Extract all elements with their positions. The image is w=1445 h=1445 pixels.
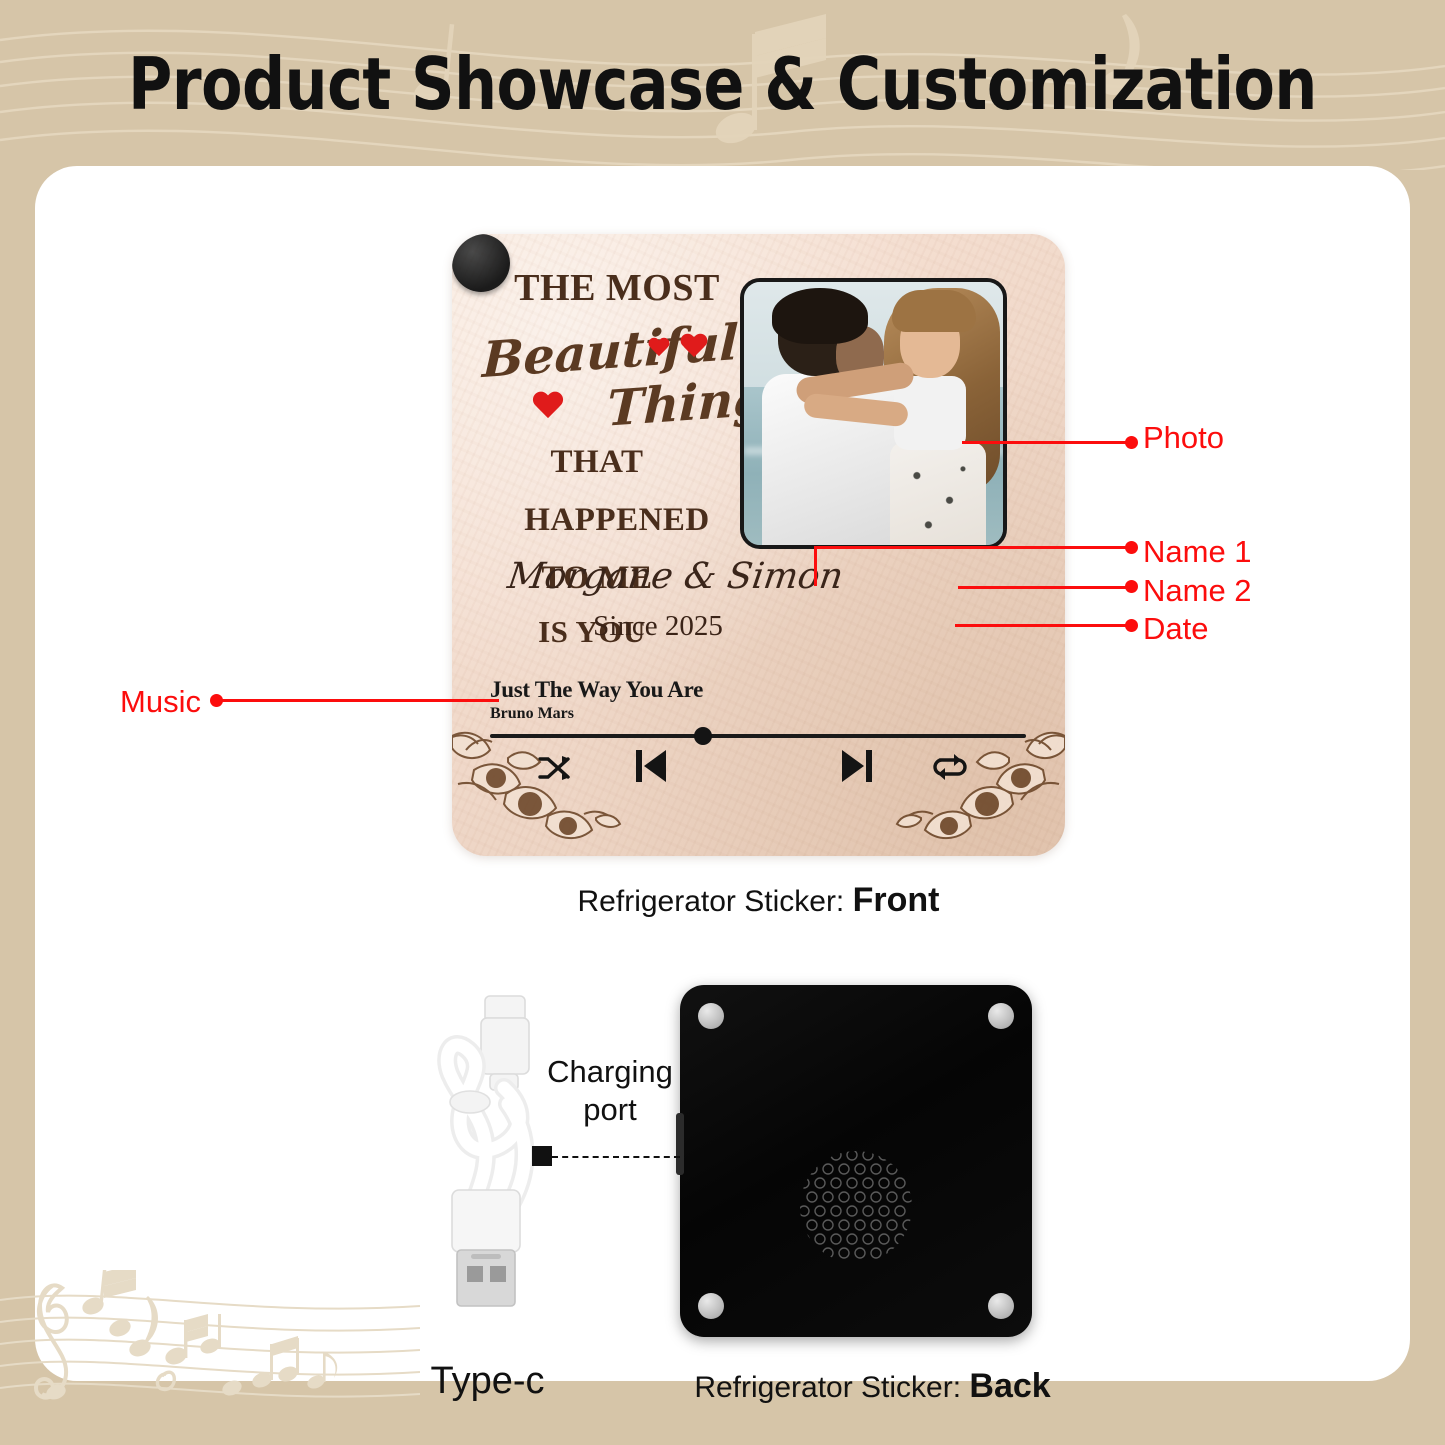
leader-line-name1-v [814, 546, 817, 586]
heart-icon-medium [680, 334, 706, 358]
annotation-music: Music [120, 684, 201, 720]
charging-port-label: Charging port [490, 1053, 730, 1129]
page-header: Product Showcase & Customization [0, 0, 1445, 170]
photo-woman-fringe [892, 290, 976, 332]
annotation-date: Date [1143, 611, 1208, 647]
heart-icon-small [648, 338, 670, 358]
usb-a-connector [452, 1190, 520, 1306]
caption-back: Refrigerator Sticker: Back [680, 1367, 1065, 1406]
leader-dot-name2 [1125, 580, 1138, 593]
quote-line-happened: HAPPENED [452, 502, 782, 539]
custom-date[interactable]: Since 2025 [508, 610, 808, 643]
caption-front-value: Front [853, 881, 940, 919]
leader-dot-date [1125, 619, 1138, 632]
progress-knob[interactable] [694, 727, 712, 745]
song-artist: Bruno Mars [490, 705, 574, 723]
music-notes-decoration-bottom [0, 1270, 420, 1445]
corner-screw-bottom-left [698, 1293, 724, 1319]
corner-screw-top-right [988, 1003, 1014, 1029]
heart-icon-large [532, 392, 564, 422]
refrigerator-sticker-back[interactable] [680, 985, 1032, 1337]
quote-line-the-most: THE MOST [452, 266, 782, 310]
caption-front-prefix: Refrigerator Sticker: [578, 885, 853, 918]
custom-names[interactable]: Morgane & Simon [505, 556, 811, 597]
custom-photo[interactable] [740, 278, 1007, 549]
previous-track-icon[interactable] [634, 747, 668, 785]
charging-port-label-line2: port [490, 1091, 730, 1129]
next-track-icon[interactable] [840, 747, 874, 785]
charging-port-leader [552, 1156, 680, 1158]
leader-line-photo [962, 441, 1129, 444]
song-title: Just The Way You Are [490, 677, 703, 703]
leader-line-name2 [958, 586, 1130, 589]
floral-engraving-left [452, 722, 624, 856]
charging-port-label-line1: Charging [490, 1053, 730, 1091]
annotation-name-1: Name 1 [1143, 534, 1252, 570]
corner-screw-bottom-right [988, 1293, 1014, 1319]
speaker-grille [797, 1148, 915, 1266]
annotation-name-2: Name 2 [1143, 573, 1252, 609]
leader-line-name1-h [814, 546, 1130, 549]
annotation-photo: Photo [1143, 420, 1224, 456]
refrigerator-sticker-front[interactable]: THE MOST Beautiful Thing THAT HAPPENED T… [452, 234, 1065, 856]
photo-man-hair [772, 288, 868, 344]
quote-line-that: THAT [452, 444, 742, 481]
caption-back-value: Back [969, 1367, 1050, 1405]
photo-woman-skirt [890, 442, 986, 549]
corner-screw-top-left [698, 1003, 724, 1029]
caption-back-prefix: Refrigerator Sticker: [694, 1371, 969, 1404]
page-title: Product Showcase & Customization [51, 42, 1395, 126]
caption-front: Refrigerator Sticker: Front [452, 881, 1065, 920]
leader-line-date [955, 624, 1130, 627]
charging-port-marker [532, 1146, 552, 1166]
leader-dot-photo [1125, 436, 1138, 449]
leader-line-music [216, 699, 499, 702]
leader-dot-name1 [1125, 541, 1138, 554]
floral-engraving-right [893, 722, 1065, 856]
